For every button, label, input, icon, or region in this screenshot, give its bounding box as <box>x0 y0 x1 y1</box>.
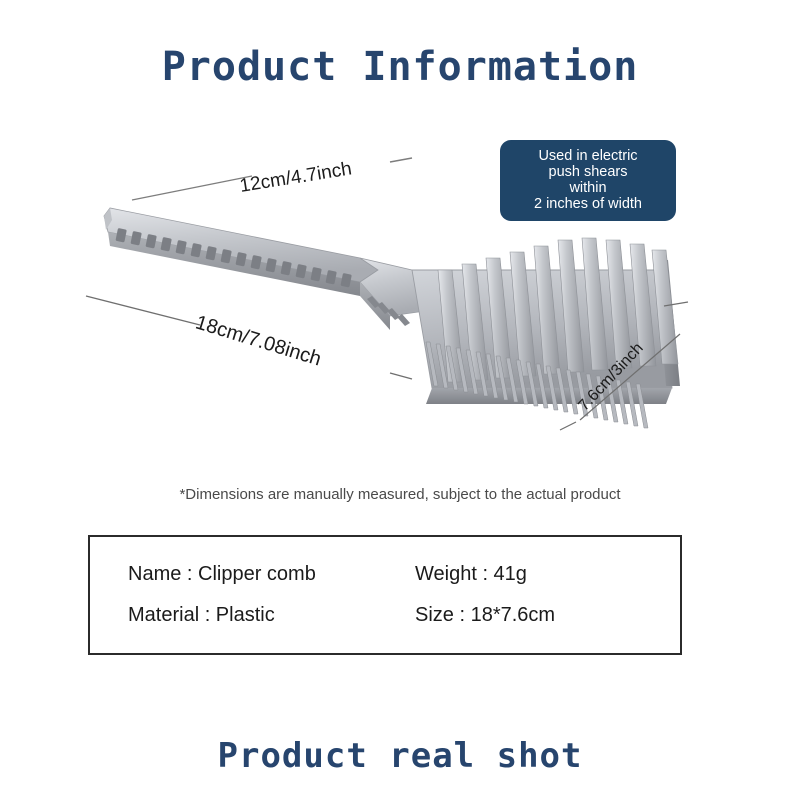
leader-line-head-width-bottom <box>560 422 576 430</box>
section-title-real-shot: Product real shot <box>0 736 800 776</box>
infographic-page: Product Information <box>0 0 800 800</box>
page-title: Product Information <box>0 44 800 90</box>
spec-row-size: Size : 18*7.6cm <box>415 604 680 627</box>
spec-column-right: Weight : 41g Size : 18*7.6cm <box>393 563 680 627</box>
leader-line-handle-length-right <box>390 158 412 162</box>
measurement-disclaimer: *Dimensions are manually measured, subje… <box>0 486 800 503</box>
callout-line-4: 2 inches of width <box>506 196 670 212</box>
comb-handle <box>104 208 432 330</box>
usage-callout: Used in electric push shears within 2 in… <box>500 140 676 221</box>
comb-head <box>412 238 680 428</box>
callout-line-3: within <box>506 180 670 196</box>
leader-line-total-length-right <box>390 373 412 379</box>
callout-line-1: Used in electric <box>506 148 670 164</box>
spec-row-weight: Weight : 41g <box>415 563 680 586</box>
leader-line-total-length <box>86 296 200 325</box>
spec-row-name: Name : Clipper comb <box>128 563 393 586</box>
spec-row-material: Material : Plastic <box>128 604 393 627</box>
spec-column-left: Name : Clipper comb Material : Plastic <box>90 563 393 627</box>
leader-line-handle-length <box>132 176 252 200</box>
callout-line-2: push shears <box>506 164 670 180</box>
specification-table: Name : Clipper comb Material : Plastic W… <box>88 535 682 655</box>
